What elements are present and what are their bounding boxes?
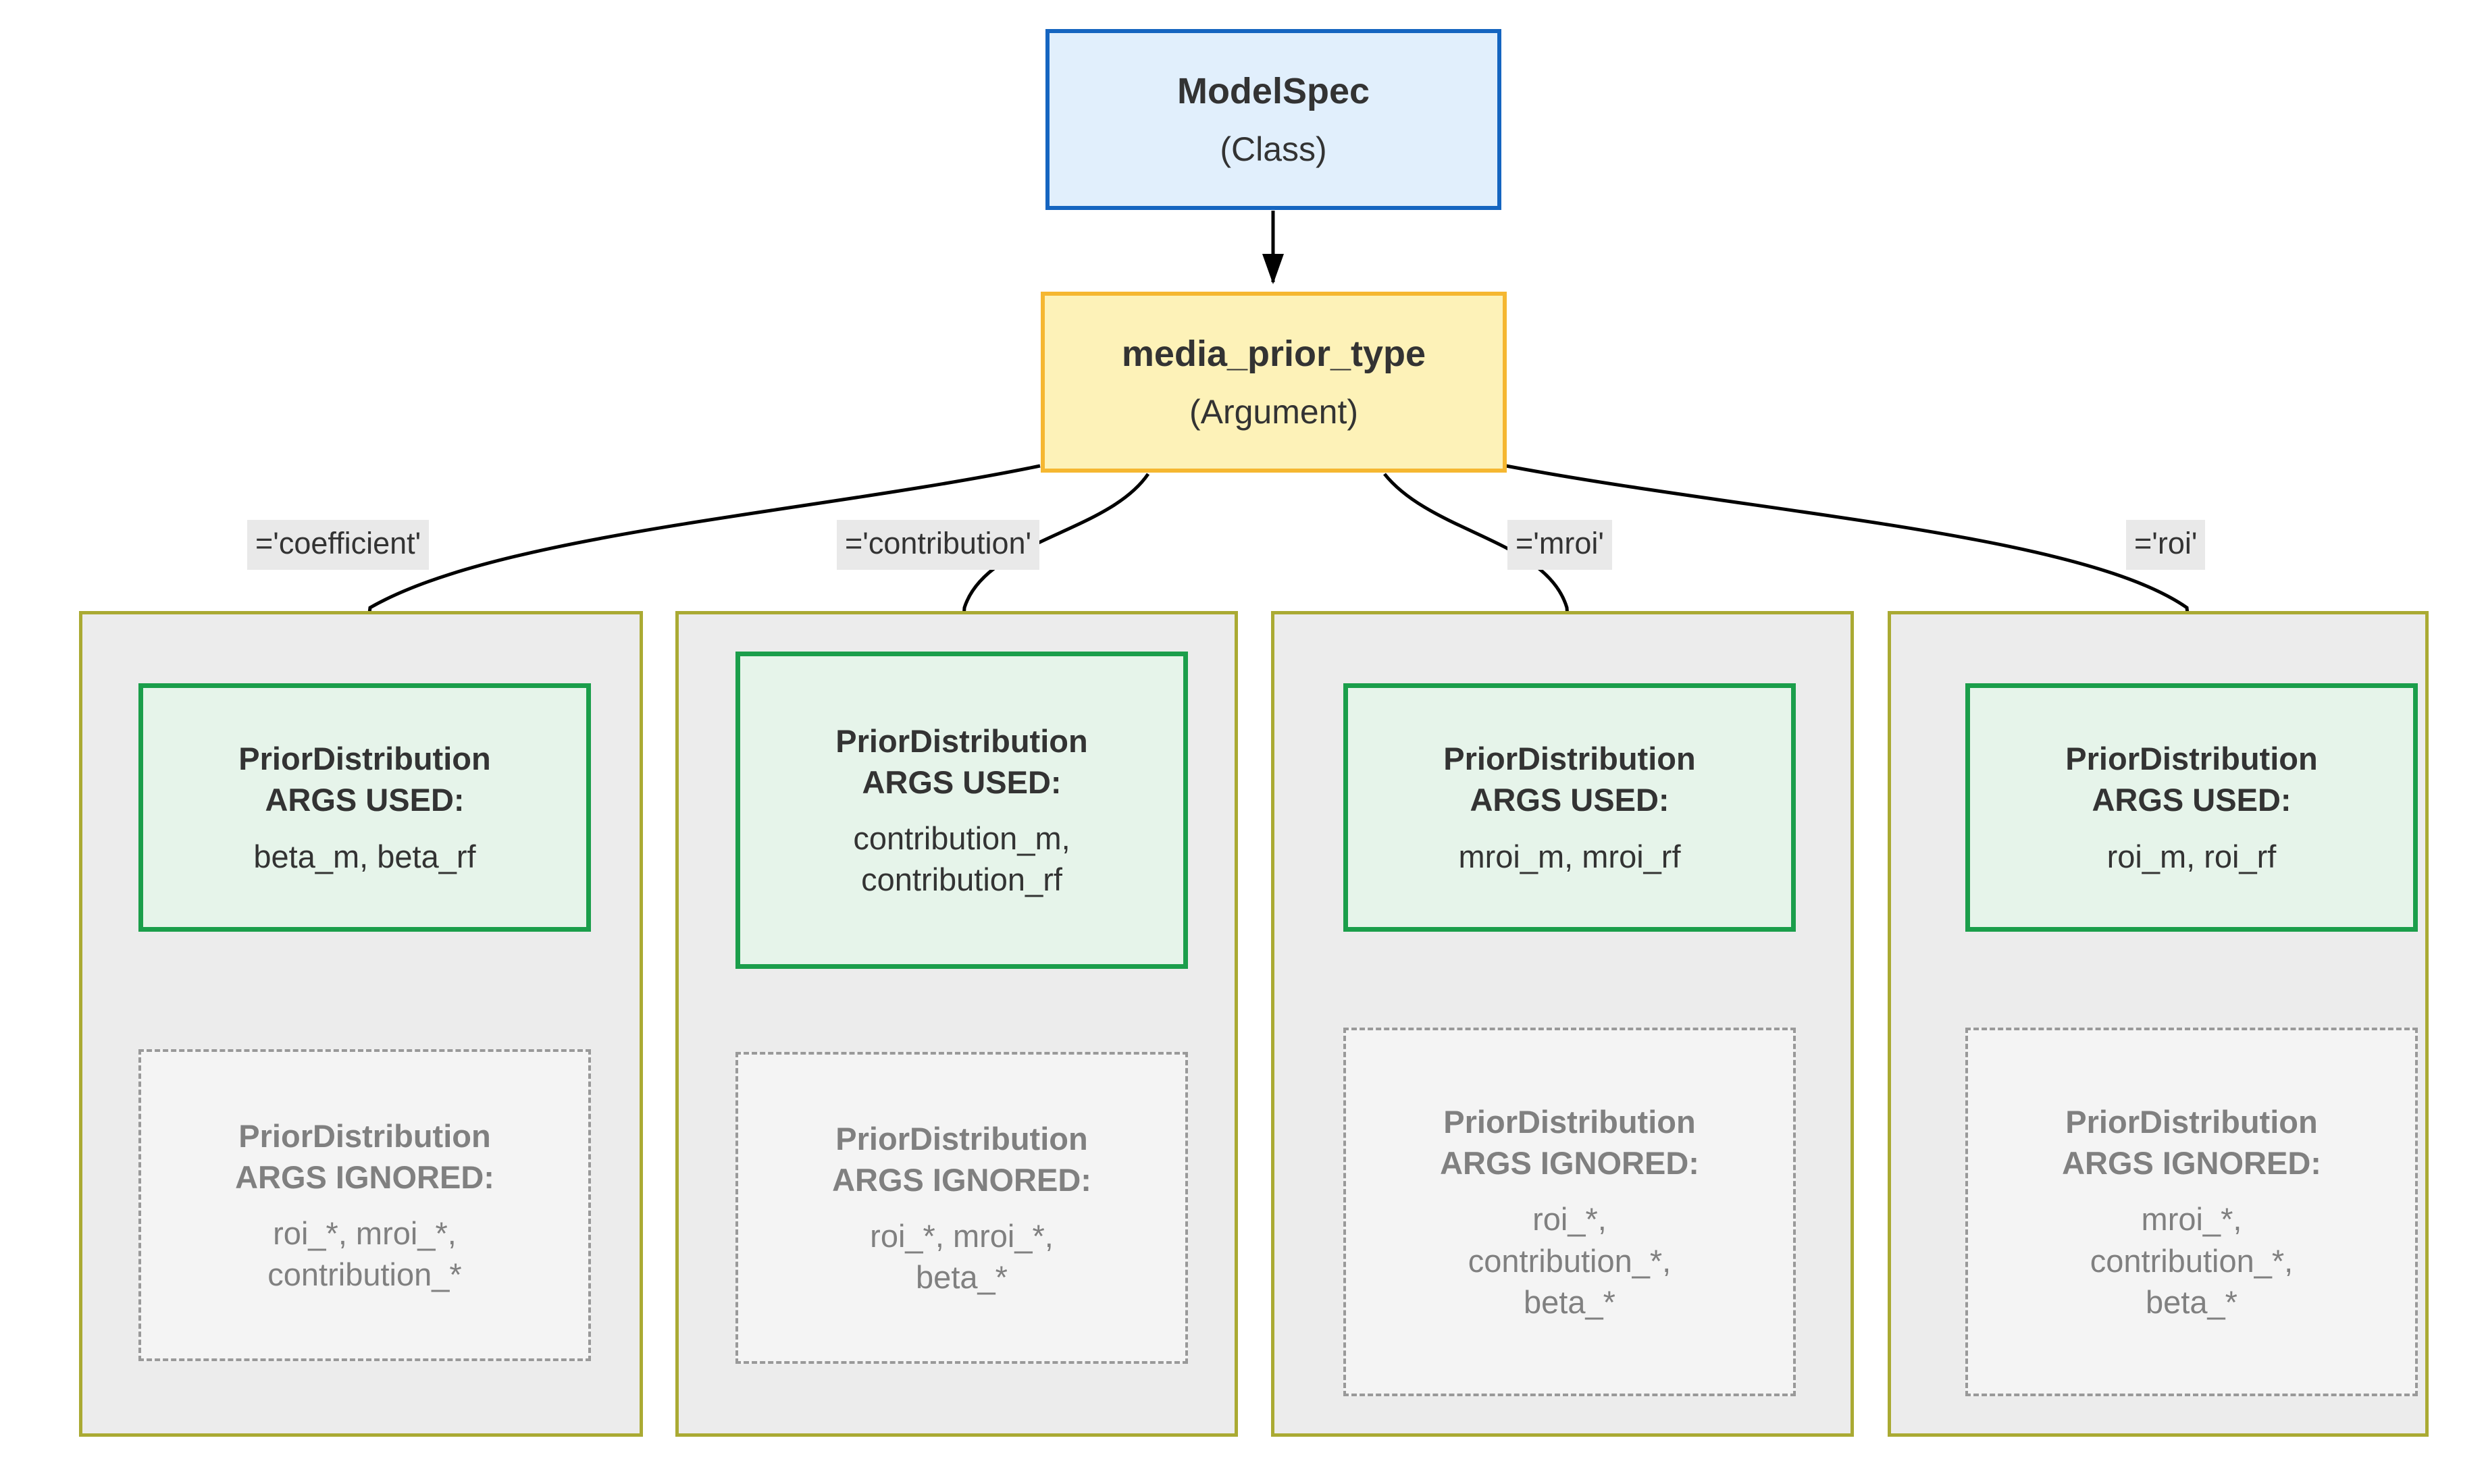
used-args-contribution: contribution_m, contribution_rf bbox=[853, 818, 1070, 900]
node-media-prior-type-argument[interactable]: media_prior_type (Argument) bbox=[1041, 292, 1507, 473]
used-title-contribution: PriorDistribution bbox=[835, 720, 1087, 762]
diagram-canvas: ModelSpec (Class) media_prior_type (Argu… bbox=[0, 0, 2484, 1484]
ignored-args-coefficient: roi_*, mroi_*, contribution_* bbox=[267, 1213, 461, 1295]
used-args-coefficient: beta_m, beta_rf bbox=[253, 836, 475, 877]
ignored-title-coefficient: PriorDistribution bbox=[238, 1115, 490, 1157]
modelspec-title: ModelSpec bbox=[1177, 73, 1370, 109]
ignored-node-contribution[interactable]: PriorDistribution ARGS IGNORED: roi_*, m… bbox=[735, 1052, 1188, 1364]
used-args-mroi: mroi_m, mroi_rf bbox=[1458, 836, 1680, 877]
ignored-node-coefficient[interactable]: PriorDistribution ARGS IGNORED: roi_*, m… bbox=[138, 1049, 591, 1361]
used-title-mroi: PriorDistribution bbox=[1443, 738, 1695, 779]
used-header-coefficient: ARGS USED: bbox=[265, 779, 464, 820]
ignored-header-coefficient: ARGS IGNORED: bbox=[235, 1157, 494, 1198]
ignored-node-mroi[interactable]: PriorDistribution ARGS IGNORED: roi_*, c… bbox=[1343, 1028, 1796, 1396]
ignored-header-roi: ARGS IGNORED: bbox=[2062, 1142, 2321, 1184]
ignored-title-contribution: PriorDistribution bbox=[835, 1118, 1087, 1159]
ignored-node-roi[interactable]: PriorDistribution ARGS IGNORED: mroi_*, … bbox=[1965, 1028, 2418, 1396]
ignored-title-roi: PriorDistribution bbox=[2065, 1101, 2317, 1142]
used-title-roi: PriorDistribution bbox=[2065, 738, 2317, 779]
media-prior-type-title: media_prior_type bbox=[1122, 336, 1426, 372]
edge-label-mroi: ='mroi' bbox=[1507, 520, 1612, 570]
edge-label-contribution: ='contribution' bbox=[837, 520, 1039, 570]
ignored-args-roi: mroi_*, contribution_*, beta_* bbox=[2090, 1198, 2293, 1322]
used-node-mroi[interactable]: PriorDistribution ARGS USED: mroi_m, mro… bbox=[1343, 683, 1796, 932]
used-node-roi[interactable]: PriorDistribution ARGS USED: roi_m, roi_… bbox=[1965, 683, 2418, 932]
used-node-coefficient[interactable]: PriorDistribution ARGS USED: beta_m, bet… bbox=[138, 683, 591, 932]
used-title-coefficient: PriorDistribution bbox=[238, 738, 490, 779]
used-node-contribution[interactable]: PriorDistribution ARGS USED: contributio… bbox=[735, 652, 1188, 969]
edge-label-coefficient: ='coefficient' bbox=[247, 520, 429, 570]
edge-label-roi: ='roi' bbox=[2126, 520, 2205, 570]
used-header-mroi: ARGS USED: bbox=[1470, 779, 1669, 820]
modelspec-subtitle: (Class) bbox=[1220, 132, 1326, 166]
ignored-title-mroi: PriorDistribution bbox=[1443, 1101, 1695, 1142]
used-header-roi: ARGS USED: bbox=[2092, 779, 2291, 820]
ignored-args-contribution: roi_*, mroi_*, beta_* bbox=[870, 1215, 1054, 1298]
node-modelspec-class[interactable]: ModelSpec (Class) bbox=[1045, 29, 1501, 210]
used-args-roi: roi_m, roi_rf bbox=[2107, 836, 2277, 877]
ignored-args-mroi: roi_*, contribution_*, beta_* bbox=[1468, 1198, 1671, 1322]
used-header-contribution: ARGS USED: bbox=[862, 762, 1061, 803]
ignored-header-contribution: ARGS IGNORED: bbox=[832, 1159, 1091, 1200]
media-prior-type-subtitle: (Argument) bbox=[1189, 395, 1358, 429]
ignored-header-mroi: ARGS IGNORED: bbox=[1440, 1142, 1699, 1184]
